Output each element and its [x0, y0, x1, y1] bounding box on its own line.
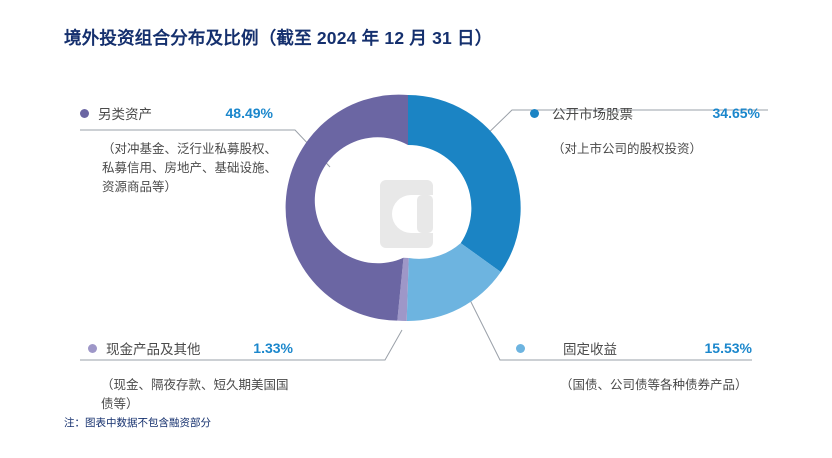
legend-dot-alternatives-icon: [80, 109, 89, 118]
legend-description-public-equity: （对上市公司的股权投资）: [530, 140, 760, 159]
brand-logo-icon: [380, 180, 433, 248]
legend-item-cash: 现金产品及其他 1.33% （现金、隔夜存款、短久期美国国债等）: [88, 338, 293, 414]
legend-label-fixed-income: 固定收益: [563, 338, 617, 358]
legend-label-alternatives: 另类资产: [98, 103, 152, 123]
legend-percent-fixed-income: 15.53%: [705, 340, 752, 356]
legend-label-public-equity: 公开市场股票: [552, 103, 633, 123]
legend-description-cash: （现金、隔夜存款、短久期美国国债等）: [88, 376, 293, 414]
legend-description-fixed-income: （国债、公司债等各种债券产品）: [516, 376, 752, 395]
chart-page: 境外投资组合分布及比例（截至 2024 年 12 月 31 日）: [0, 0, 832, 458]
legend-percent-alternatives: 48.49%: [226, 105, 295, 121]
legend-percent-cash: 1.33%: [253, 340, 293, 356]
legend-item-alternatives: 另类资产 48.49% （对冲基金、泛行业私募股权、 私募信用、房地产、基础设施…: [80, 103, 295, 197]
legend-item-public-equity: 公开市场股票 34.65% （对上市公司的股权投资）: [530, 103, 760, 159]
donut-segments: [286, 95, 521, 321]
legend-dot-fixed-income-icon: [516, 344, 525, 353]
legend-label-cash: 现金产品及其他: [106, 338, 201, 358]
legend-percent-public-equity: 34.65%: [713, 105, 760, 121]
legend-description-alternatives: （对冲基金、泛行业私募股权、 私募信用、房地产、基础设施、 资源商品等）: [80, 140, 295, 197]
legend-dot-public-equity-icon: [530, 109, 539, 118]
chart-footnote: 注：图表中数据不包含融资部分: [64, 415, 211, 430]
legend-item-fixed-income: 固定收益 15.53% （国债、公司债等各种债券产品）: [516, 338, 752, 395]
legend-dot-cash-icon: [88, 344, 97, 353]
